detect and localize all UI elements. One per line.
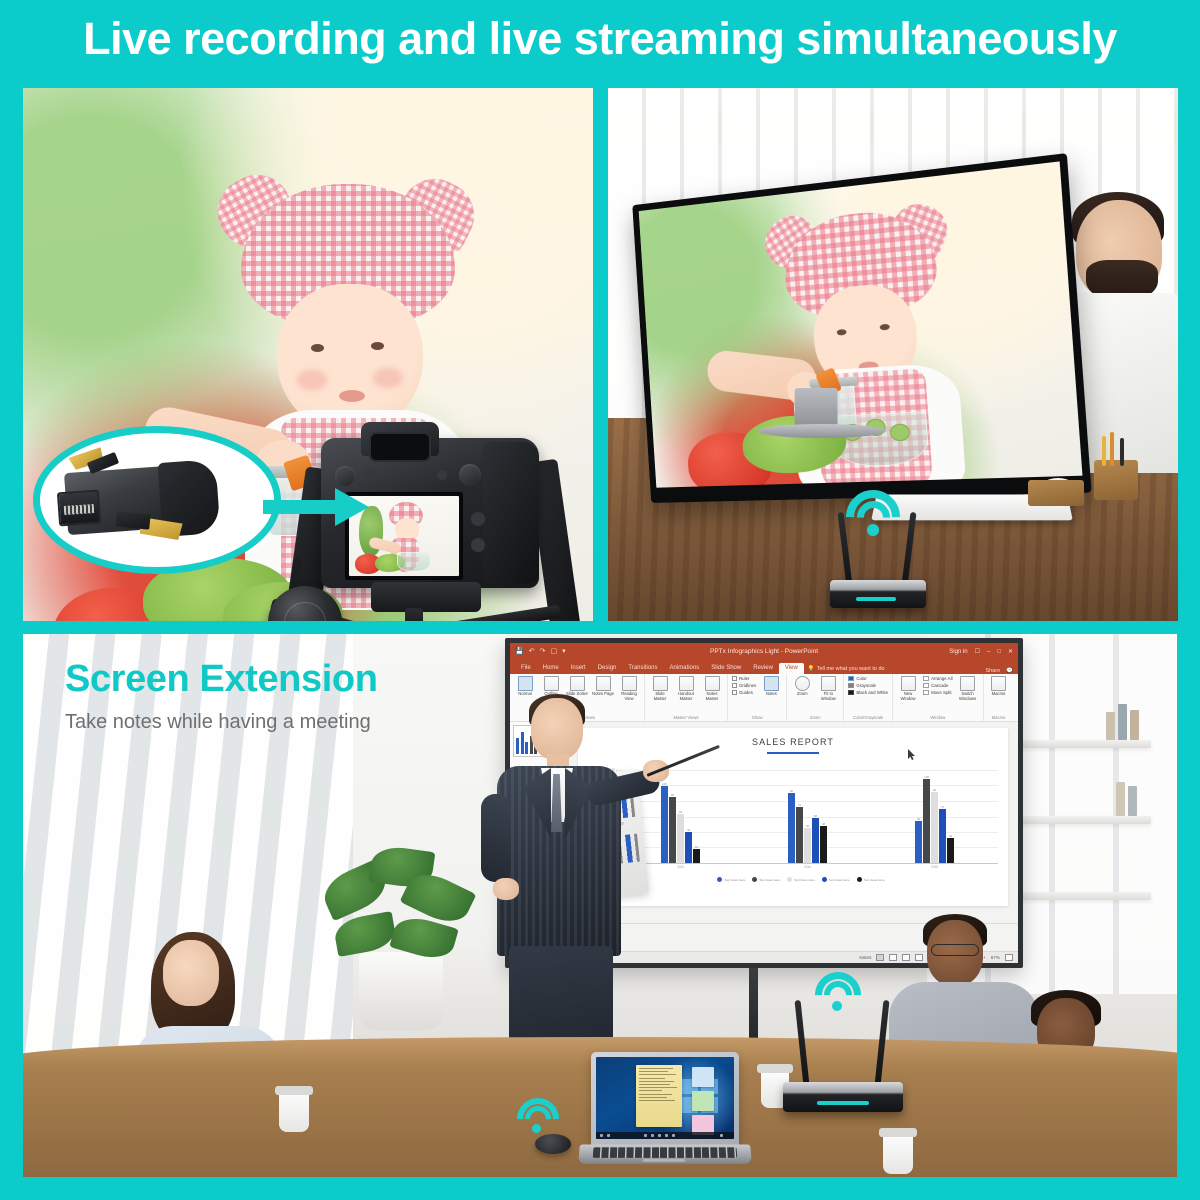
chart-bar: 54 bbox=[915, 821, 922, 863]
ribbon-button-label: Switch Windows bbox=[957, 692, 979, 702]
presenter-laptop[interactable] bbox=[579, 1052, 751, 1176]
minimize-icon[interactable]: – bbox=[987, 649, 990, 655]
cascade-icon bbox=[923, 683, 929, 688]
presenter-hand-left bbox=[493, 878, 519, 900]
shelf-book bbox=[1116, 782, 1125, 816]
new-window-icon bbox=[901, 676, 916, 691]
child-mouth bbox=[339, 390, 365, 402]
switch-windows-icon bbox=[960, 676, 975, 691]
x-axis-label: 2014 bbox=[804, 863, 811, 869]
wifi-waves-icon bbox=[515, 1096, 571, 1146]
ribbon-group-window: New Window Arrange All Cascade bbox=[893, 674, 983, 721]
checkbox-box[interactable] bbox=[732, 690, 737, 695]
pen bbox=[1120, 438, 1124, 466]
arrange-all-icon bbox=[923, 676, 929, 681]
desktop-monitor bbox=[632, 153, 1091, 503]
lcd-bowl bbox=[397, 552, 431, 572]
legend-color-dot bbox=[822, 877, 827, 882]
chart-bar: 40 bbox=[685, 832, 692, 863]
tell-me-box[interactable]: 💡 Tell me what you want to do bbox=[804, 664, 889, 674]
chart-bar: 85 bbox=[669, 797, 676, 863]
wifi-dot bbox=[867, 524, 879, 536]
chart-bar: 32 bbox=[947, 838, 954, 863]
ribbon-group-items: Slide Master Handout Master Notes Master bbox=[649, 676, 723, 702]
powerpoint-titlebar: 💾 ↶ ↷ ▢ ▾ PPTx Infographics Light - Powe… bbox=[510, 643, 1018, 660]
ribbon-button-label: Notes Page bbox=[592, 692, 614, 697]
chart-bar: 92 bbox=[931, 792, 938, 863]
ribbon-button-handout-master[interactable]: Handout Master bbox=[675, 676, 697, 702]
tab-home[interactable]: Home bbox=[537, 663, 565, 674]
fit-to-window-icon bbox=[821, 676, 836, 691]
legend-label: Text Goes Here bbox=[829, 878, 850, 882]
camera-button[interactable] bbox=[471, 512, 485, 526]
page-headline: Live recording and live streaming simult… bbox=[0, 13, 1200, 65]
notes-page-icon bbox=[596, 676, 611, 691]
chart-bar-group: 541089270322015 bbox=[915, 770, 954, 863]
coffee-cup bbox=[279, 1092, 309, 1132]
chart-bar-value: 72 bbox=[798, 803, 801, 807]
plant-pot bbox=[359, 952, 443, 1030]
product-marketing-image: Live recording and live streaming simult… bbox=[0, 0, 1200, 1200]
receiver-body bbox=[830, 580, 926, 608]
slide-master-icon bbox=[653, 676, 668, 691]
tripod-column bbox=[405, 608, 423, 621]
sticky-note-blue[interactable] bbox=[692, 1067, 714, 1087]
checkbox-guides[interactable]: Guides bbox=[732, 690, 756, 695]
button-cascade[interactable]: Cascade bbox=[923, 683, 952, 688]
chart-bar-group: 100856340182013 bbox=[661, 770, 700, 863]
ribbon-button-label: Notes bbox=[766, 692, 777, 697]
chart-bar-value: 18 bbox=[695, 845, 698, 849]
checkbox-label: Guides bbox=[739, 690, 753, 695]
monitor-screen bbox=[639, 161, 1083, 487]
ribbon-group-items: Macros bbox=[988, 676, 1010, 697]
chart-bar: 72 bbox=[796, 807, 803, 863]
section-title: Screen Extension bbox=[65, 658, 378, 701]
chart-bar: 108 bbox=[923, 779, 930, 863]
pencil bbox=[1110, 432, 1114, 466]
ribbon-button-notes-page[interactable]: Notes Page bbox=[592, 676, 614, 697]
color-swatch-icon bbox=[848, 676, 854, 681]
chart-bar-value: 45 bbox=[806, 824, 809, 828]
legend-color-dot bbox=[787, 877, 792, 882]
legend-color-dot bbox=[717, 877, 722, 882]
pencil bbox=[1102, 436, 1106, 466]
button-arrange-all[interactable]: Arrange All bbox=[923, 676, 952, 681]
dongle-ring bbox=[284, 602, 326, 621]
ribbon-button-macros[interactable]: Macros bbox=[988, 676, 1010, 697]
chart-bar-value: 92 bbox=[933, 788, 936, 792]
hdmi-adapter-callout bbox=[33, 426, 281, 574]
camera-grip bbox=[483, 442, 539, 584]
ribbon-button-label: New Window bbox=[897, 692, 919, 702]
show-checkboxes[interactable]: Ruler Gridlines Guides bbox=[732, 676, 756, 695]
ribbon-button-switch-windows[interactable]: Switch Windows bbox=[957, 676, 979, 702]
normal-view-icon bbox=[518, 676, 533, 691]
camera-dial-right[interactable] bbox=[459, 464, 481, 486]
restore-icon[interactable]: □ bbox=[997, 649, 1001, 655]
receiver-led-strip bbox=[856, 597, 896, 601]
button-move-split[interactable]: Move Split bbox=[923, 690, 952, 695]
save-icon[interactable]: 💾 bbox=[515, 648, 524, 655]
button-label: Cascade bbox=[931, 683, 948, 688]
laptop-lid bbox=[591, 1052, 739, 1146]
windows-taskbar[interactable] bbox=[596, 1132, 734, 1139]
chart-bar-value: 100 bbox=[662, 782, 667, 786]
tab-review[interactable]: Review bbox=[747, 663, 779, 674]
close-icon[interactable]: ✕ bbox=[1008, 648, 1013, 655]
laptop-trackpad[interactable] bbox=[643, 1159, 685, 1162]
ribbon-group-label: Window bbox=[897, 715, 978, 721]
camera-dial-left[interactable] bbox=[335, 466, 355, 486]
desk-organizer-tray bbox=[1028, 480, 1084, 506]
legend-label: Text Goes Here bbox=[724, 878, 745, 882]
tab-insert[interactable]: Insert bbox=[565, 663, 592, 674]
ribbon-button-notes[interactable]: Notes bbox=[760, 676, 782, 697]
laptop-keyboard[interactable] bbox=[593, 1147, 738, 1158]
panel-screen-extension: Screen Extension Take notes while having… bbox=[23, 634, 1177, 1177]
notes-icon bbox=[764, 676, 779, 691]
child-cheek-left bbox=[297, 370, 327, 390]
legend-color-dot bbox=[752, 877, 757, 882]
sales-report-chart: 120 100 80 60 40 20 0 100856340182013907… bbox=[604, 770, 998, 880]
chart-bar: 18 bbox=[693, 849, 700, 863]
macros-icon bbox=[991, 676, 1006, 691]
ribbon-button-new-window[interactable]: New Window bbox=[897, 676, 919, 702]
chart-bar-value: 70 bbox=[941, 805, 944, 809]
button-label: Black and White bbox=[856, 690, 888, 695]
receiver-antenna-right bbox=[875, 1000, 890, 1086]
coffee-cup bbox=[883, 1134, 913, 1174]
ribbon-button-label: Fit to Window bbox=[817, 692, 839, 702]
chart-legend: Text Goes HereText Goes HereText Goes He… bbox=[604, 877, 998, 882]
chart-bar-groups: 1008563401820139072455848201454108927032… bbox=[617, 770, 998, 863]
chart-bar: 63 bbox=[677, 814, 684, 863]
legend-label: Text Goes Here bbox=[864, 878, 885, 882]
titlebar-controls[interactable]: Sign in ☐ – □ ✕ bbox=[949, 648, 1013, 655]
customize-icon[interactable]: ▾ bbox=[562, 648, 566, 655]
shelf-book bbox=[1128, 786, 1137, 816]
chart-bar-value: 40 bbox=[687, 828, 690, 832]
receiver-body bbox=[783, 1082, 903, 1112]
redo-icon[interactable]: ↷ bbox=[540, 648, 546, 655]
chart-bar: 45 bbox=[804, 828, 811, 863]
chart-bar: 100 bbox=[661, 786, 668, 864]
tab-slide-show[interactable]: Slide Show bbox=[705, 663, 747, 674]
presenter-arm-left bbox=[481, 794, 511, 882]
x-axis-label: 2013 bbox=[677, 863, 684, 869]
ribbon-button-slide-sorter[interactable]: Slide Sorter bbox=[566, 676, 588, 697]
slide-title-underline bbox=[767, 752, 819, 754]
camera-button[interactable] bbox=[437, 470, 447, 480]
reading-view-icon bbox=[622, 676, 637, 691]
black-white-swatch-icon bbox=[848, 690, 854, 695]
section-subtitle: Take notes while having a meeting bbox=[65, 711, 378, 734]
header-band: Live recording and live streaming simult… bbox=[0, 0, 1200, 82]
checkbox-gridlines[interactable]: Gridlines bbox=[732, 683, 756, 688]
ribbon-group-master-views: Slide Master Handout Master Notes Master bbox=[645, 674, 728, 721]
chart-bar-group: 90724558482014 bbox=[788, 770, 827, 863]
wifi-dot bbox=[832, 1001, 842, 1011]
button-label: Move Split bbox=[931, 690, 952, 695]
wifi-waves-icon bbox=[813, 970, 875, 1024]
ribbon-group-zoom: Zoom Fit to Window Zoom bbox=[787, 674, 844, 721]
window-title: PPTx Infographics Light - PowerPoint bbox=[510, 648, 1018, 655]
notes-master-icon bbox=[705, 676, 720, 691]
eyeglasses-icon bbox=[931, 944, 979, 956]
move-split-icon bbox=[923, 690, 929, 695]
legend-item: Text Goes Here bbox=[857, 877, 885, 882]
laptop-screen bbox=[596, 1057, 734, 1139]
ribbon-group-items: Ruler Gridlines Guides bbox=[732, 676, 782, 697]
quick-access-toolbar[interactable]: 💾 ↶ ↷ ▢ ▾ bbox=[515, 648, 566, 655]
present-icon[interactable]: ▢ bbox=[550, 648, 557, 655]
undo-icon[interactable]: ↶ bbox=[529, 648, 535, 655]
legend-item: Text Goes Here bbox=[717, 877, 745, 882]
ribbon-group-items: Zoom Fit to Window bbox=[791, 676, 839, 702]
chart-bar: 70 bbox=[939, 809, 946, 863]
ribbon-button-label: Zoom bbox=[797, 692, 808, 697]
chart-bar-value: 90 bbox=[790, 789, 793, 793]
coffee-cup-lid bbox=[879, 1128, 917, 1137]
laptop-base bbox=[578, 1144, 752, 1163]
ribbon-button-label: Macros bbox=[992, 692, 1006, 697]
camera-button[interactable] bbox=[363, 468, 375, 480]
ribbon-button-label: Handout Master bbox=[675, 692, 697, 702]
child-eye-left bbox=[311, 344, 324, 352]
x-axis-label: 2015 bbox=[931, 863, 938, 869]
presenter-head bbox=[531, 698, 583, 760]
window-arrange-list[interactable]: Arrange All Cascade Move Split bbox=[923, 676, 952, 695]
panel-live-streaming bbox=[608, 88, 1178, 621]
camera-viewfinder bbox=[369, 432, 431, 462]
color-mode-list[interactable]: Color Grayscale Black and White bbox=[848, 676, 888, 695]
ribbon-button-label: Notes Master bbox=[701, 692, 723, 702]
chart-bar-value: 48 bbox=[822, 822, 825, 826]
legend-label: Text Goes Here bbox=[794, 878, 815, 882]
checkbox-box[interactable] bbox=[732, 683, 737, 688]
shelf-book bbox=[1130, 710, 1139, 740]
legend-item: Text Goes Here bbox=[787, 877, 815, 882]
ribbon-group-macros: Macros Macros bbox=[984, 674, 1014, 721]
chart-bar-value: 58 bbox=[814, 814, 817, 818]
camera-button[interactable] bbox=[471, 538, 485, 552]
ribbon-group-label: Show bbox=[732, 715, 782, 721]
chart-bar: 58 bbox=[812, 818, 819, 863]
lightbulb-icon: 💡 bbox=[808, 666, 815, 672]
button-black-and-white[interactable]: Black and White bbox=[848, 690, 888, 695]
ribbon-group-items: New Window Arrange All Cascade bbox=[897, 676, 978, 702]
monitor-base bbox=[758, 424, 886, 438]
ribbon-button-fit-to-window[interactable]: Fit to Window bbox=[817, 676, 839, 702]
legend-color-dot bbox=[857, 877, 862, 882]
tab-view[interactable]: View bbox=[779, 663, 804, 674]
button-color[interactable]: Color bbox=[848, 676, 888, 681]
tripod-head bbox=[371, 582, 481, 612]
chart-bar-value: 108 bbox=[924, 775, 929, 779]
pen-holder bbox=[1094, 460, 1138, 500]
chart-plot-area: 120 100 80 60 40 20 0 100856340182013907… bbox=[616, 770, 998, 864]
ribbon-group-label: Master Views bbox=[649, 715, 723, 721]
ribbon-button-notes-master[interactable]: Notes Master bbox=[701, 676, 723, 702]
outline-view-icon bbox=[544, 676, 559, 691]
chart-bar-value: 32 bbox=[949, 834, 952, 838]
child-cheek-right bbox=[373, 368, 403, 388]
grayscale-swatch-icon bbox=[848, 683, 854, 688]
wifi-waves-icon bbox=[844, 488, 916, 550]
coffee-cup-lid bbox=[275, 1086, 313, 1095]
zoom-magnifier-icon bbox=[795, 676, 810, 691]
tab-animations[interactable]: Animations bbox=[664, 663, 706, 674]
sticky-note-green[interactable] bbox=[692, 1091, 714, 1111]
ribbon-group-color-grayscale: Color Grayscale Black and White Co bbox=[844, 674, 893, 721]
ribbon-button-normal[interactable]: Normal bbox=[514, 676, 536, 697]
presenter-person bbox=[475, 698, 655, 1088]
chart-bar: 90 bbox=[788, 793, 795, 863]
ribbon-tabs[interactable]: File Home Insert Design Transitions Anim… bbox=[510, 660, 1018, 674]
slide-sorter-icon bbox=[570, 676, 585, 691]
ribbon-group-label: Color/Grayscale bbox=[848, 715, 888, 721]
ribbon-button-zoom[interactable]: Zoom bbox=[791, 676, 813, 697]
wifi-dot bbox=[532, 1124, 541, 1133]
section-heading-block: Screen Extension Take notes while having… bbox=[65, 658, 378, 734]
ribbon-group-label: Macros bbox=[988, 715, 1010, 721]
tab-file[interactable]: File bbox=[515, 663, 537, 674]
chart-bar-value: 63 bbox=[679, 810, 682, 814]
sign-in-link[interactable]: Sign in bbox=[949, 649, 967, 655]
chart-bar-value: 85 bbox=[671, 793, 674, 797]
chart-bar: 48 bbox=[820, 826, 827, 863]
ribbon-group-show: Ruler Gridlines Guides bbox=[728, 674, 787, 721]
receiver-antenna-left bbox=[795, 1000, 810, 1086]
button-label: Grayscale bbox=[856, 683, 876, 688]
button-label: Color bbox=[856, 676, 867, 681]
woman-head bbox=[163, 940, 219, 1006]
mouse-cursor bbox=[908, 747, 916, 758]
receiver-led-strip bbox=[817, 1101, 869, 1105]
tell-me-label: Tell me what you want to do bbox=[817, 666, 885, 672]
button-label: Arrange All bbox=[931, 676, 952, 681]
ribbon-group-label: Zoom bbox=[791, 715, 839, 721]
legend-label: Text Goes Here bbox=[759, 878, 780, 882]
tab-transitions[interactable]: Transitions bbox=[622, 663, 663, 674]
shelf-book bbox=[1106, 712, 1115, 740]
chart-bar-value: 54 bbox=[917, 817, 920, 821]
checkbox-box[interactable] bbox=[732, 676, 737, 681]
ribbon-options-icon[interactable]: ☐ bbox=[975, 648, 980, 655]
cucumber-slice bbox=[889, 423, 910, 441]
tab-design[interactable]: Design bbox=[592, 663, 623, 674]
checkbox-label: Ruler bbox=[739, 676, 750, 681]
panel-live-recording bbox=[23, 88, 593, 621]
ribbon-button-label: Normal bbox=[518, 692, 532, 697]
checkbox-label: Gridlines bbox=[739, 683, 756, 688]
button-grayscale[interactable]: Grayscale bbox=[848, 683, 888, 688]
arrow-right-icon bbox=[263, 486, 371, 528]
handout-master-icon bbox=[679, 676, 694, 691]
child-eye-right bbox=[371, 342, 384, 350]
checkbox-ruler[interactable]: Ruler bbox=[732, 676, 756, 681]
notepad-window[interactable] bbox=[636, 1065, 682, 1127]
legend-item: Text Goes Here bbox=[822, 877, 850, 882]
shelf-book bbox=[1118, 704, 1127, 740]
legend-item: Text Goes Here bbox=[752, 877, 780, 882]
